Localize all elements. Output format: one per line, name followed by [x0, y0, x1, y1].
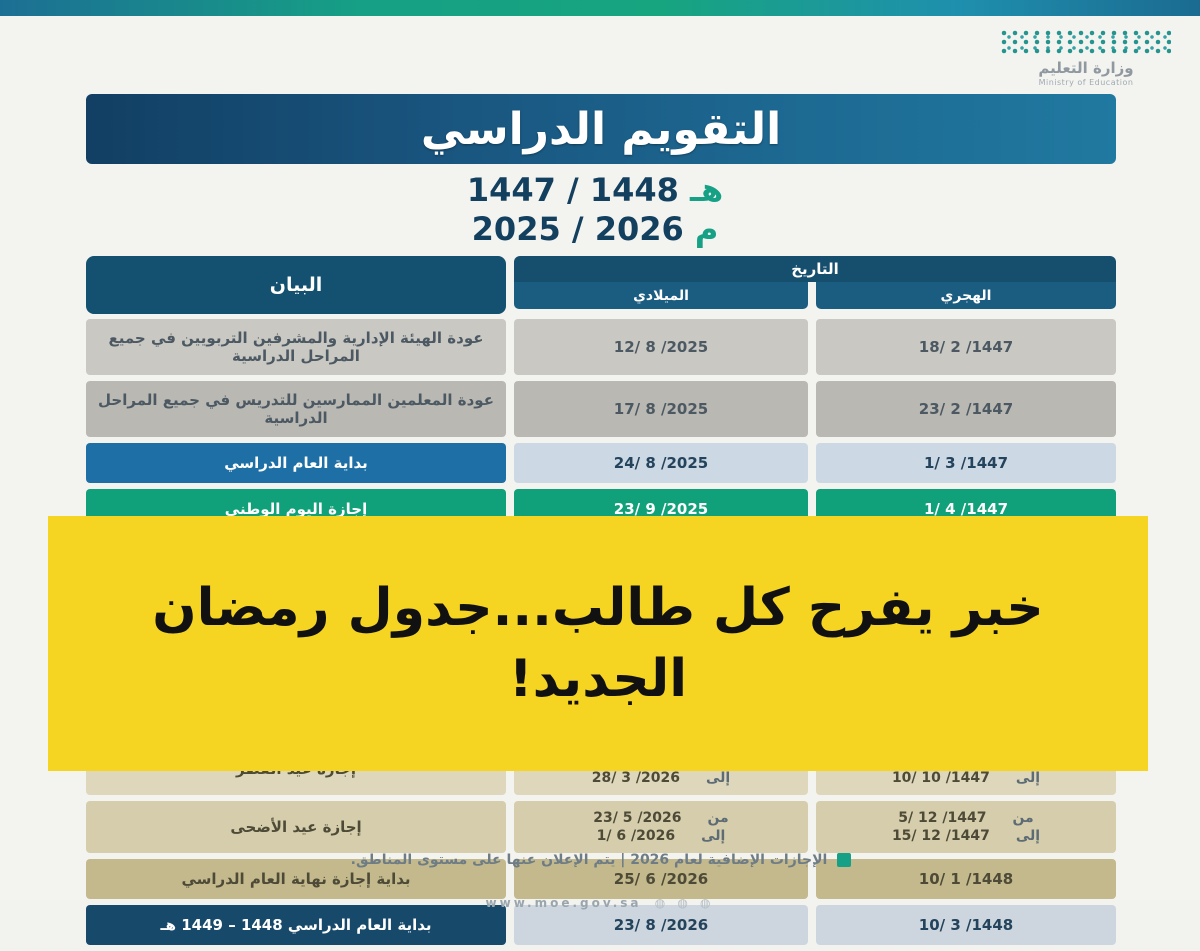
- header-date-group: التاريخ: [514, 256, 1116, 282]
- row-statement: بداية العام الدراسي: [86, 443, 506, 483]
- range-to-value: 28/ 3 /2026: [592, 770, 680, 786]
- footer-note: الإجازات الإضافية لعام 2026 | يتم الإعلا…: [86, 852, 1116, 868]
- header-hijri: الهجري: [816, 282, 1116, 309]
- range-to-value: 10/ 10 /1447: [892, 770, 990, 786]
- table-row: 10/ 3 /1448 23/ 8 /2026 بداية العام الدر…: [86, 905, 1116, 945]
- hijri-year-unit: هـ: [690, 171, 723, 209]
- row-statement: عودة الهيئة الإدارية والمشرفين التربويين…: [86, 319, 506, 375]
- row-statement: عودة المعلمين الممارسين للتدريس في جميع …: [86, 381, 506, 437]
- table-row: 1/ 3 /1447 24/ 8 /2025 بداية العام الدرا…: [86, 443, 1116, 483]
- logo-english-text: Ministry of Education: [996, 78, 1176, 87]
- gregorian-year-value: 2025 / 2026: [472, 210, 684, 248]
- row-statement: بداية العام الدراسي 1448 – 1449 هـ: [86, 905, 506, 945]
- row-hijri-date-range: من5/ 12 /1447 إلى15/ 12 /1447: [816, 801, 1116, 853]
- poster-title-banner: التقويم الدراسي: [86, 94, 1116, 164]
- row-hijri-date: 18/ 2 /1447: [816, 319, 1116, 375]
- footer-url: ◍ ◍ ◍ www.moe.gov.sa: [0, 896, 1200, 910]
- gregorian-year-line: 2025 / 2026 م: [0, 210, 1200, 249]
- header-statement: البيان: [86, 256, 506, 314]
- ministry-logo: وزارة التعليم Ministry of Education: [996, 30, 1176, 92]
- academic-years: 1447 / 1448 هـ 2025 / 2026 م: [0, 171, 1200, 249]
- row-statement: إجازة عيد الأضحى: [86, 801, 506, 853]
- dot-matrix-logo-icon: [1001, 30, 1171, 56]
- range-from-value: 23/ 5 /2026: [593, 810, 681, 826]
- footer-note-text: الإجازات الإضافية لعام 2026 | يتم الإعلا…: [351, 852, 828, 868]
- row-gregorian-date: 23/ 8 /2026: [514, 905, 808, 945]
- range-from-value: 5/ 12 /1447: [898, 810, 986, 826]
- hijri-year-value: 1447 / 1448: [467, 171, 679, 209]
- page-title: التقويم الدراسي: [421, 104, 781, 155]
- row-hijri-date: 10/ 3 /1448: [816, 905, 1116, 945]
- range-to-value: 1/ 6 /2026: [597, 828, 675, 844]
- range-to-label: إلى: [1016, 770, 1040, 786]
- table-row: 18/ 2 /1447 12/ 8 /2025 عودة الهيئة الإد…: [86, 319, 1116, 375]
- table-header: التاريخ الهجري الميلادي البيان: [86, 256, 1116, 314]
- range-from-label: من: [1012, 810, 1033, 826]
- row-hijri-date: 23/ 2 /1447: [816, 381, 1116, 437]
- range-to-label: إلى: [706, 770, 730, 786]
- table-row: من5/ 12 /1447 إلى15/ 12 /1447 من23/ 5 /2…: [86, 801, 1116, 853]
- globe-icon: ◍ ◍ ◍: [655, 896, 715, 910]
- table-row: 23/ 2 /1447 17/ 8 /2025 عودة المعلمين ال…: [86, 381, 1116, 437]
- range-from-label: من: [707, 810, 728, 826]
- row-gregorian-date: 12/ 8 /2025: [514, 319, 808, 375]
- row-gregorian-date: 17/ 8 /2025: [514, 381, 808, 437]
- header-gregorian: الميلادي: [514, 282, 808, 309]
- hijri-year-line: 1447 / 1448 هـ: [0, 171, 1200, 210]
- top-gradient-bar: [0, 0, 1200, 16]
- gregorian-year-unit: م: [695, 210, 718, 248]
- logo-arabic-text: وزارة التعليم: [996, 59, 1176, 77]
- bullet-square-icon: [837, 853, 851, 867]
- footer-url-text: www.moe.gov.sa: [486, 896, 642, 910]
- calendar-poster: وزارة التعليم Ministry of Education التق…: [0, 16, 1200, 900]
- news-overlay-banner: خبر يفرح كل طالب...جدول رمضان الجديد!: [48, 516, 1148, 771]
- row-hijri-date: 1/ 3 /1447: [816, 443, 1116, 483]
- range-to-value: 15/ 12 /1447: [892, 828, 990, 844]
- overlay-headline: خبر يفرح كل طالب...جدول رمضان الجديد!: [48, 573, 1148, 713]
- row-gregorian-date-range: من23/ 5 /2026 إلى1/ 6 /2026: [514, 801, 808, 853]
- range-to-label: إلى: [701, 828, 725, 844]
- row-gregorian-date: 24/ 8 /2025: [514, 443, 808, 483]
- range-to-label: إلى: [1016, 828, 1040, 844]
